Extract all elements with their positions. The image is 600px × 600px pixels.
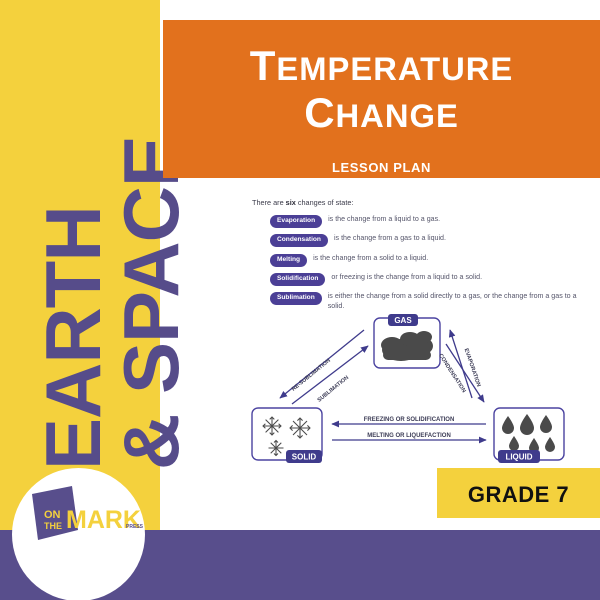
content-body: There are six changes of state: Evaporat… [252, 198, 582, 318]
state-term-evaporation: Evaporation [270, 215, 322, 228]
page-title-line1: TEMPERATURE [163, 44, 600, 91]
state-item: Evaporation is the change from a liquid … [252, 215, 582, 228]
diagram-arrow-label-melting: MELTING OR LIQUEFACTION [367, 433, 451, 439]
state-definition-condensation: is the change from a gas to a liquid. [334, 234, 446, 243]
diagram-label-liquid: LIQUID [505, 453, 532, 462]
diagram-label-gas: GAS [394, 316, 412, 325]
state-term-sublimation: Sublimation [270, 292, 322, 305]
logo-word-on: ON [44, 509, 61, 521]
subject-band: EARTH & SPACE [0, 0, 160, 530]
logo-word-the: THE [44, 521, 62, 531]
page-subtitle: LESSON PLAN [163, 160, 600, 175]
diagram-node-solid: SOLID [252, 408, 322, 463]
grade-badge: GRADE 7 [437, 468, 600, 518]
state-item: Condensation is the change from a gas to… [252, 234, 582, 247]
subject-label-earth: EARTH [34, 206, 112, 470]
state-term-condensation: Condensation [270, 234, 328, 247]
state-term-solidification: Solidification [270, 273, 325, 286]
diagram-node-gas: GAS [374, 314, 440, 368]
state-change-diagram: GAS [246, 312, 600, 477]
page-title: TEMPERATURE CHANGE [163, 44, 600, 138]
subject-label-space: & SPACE [112, 136, 190, 470]
state-definition-evaporation: is the change from a liquid to a gas. [328, 215, 440, 224]
logo-word-press: PRESS [126, 524, 144, 530]
diagram-arrow-label-condensation: CONDENSATION [437, 353, 467, 394]
diagram-arrow-label-freezing: FREEZING OR SOLIDIFICATION [364, 417, 455, 423]
state-definition-sublimation: is either the change from a solid direct… [328, 292, 582, 311]
page-title-line2: CHANGE [163, 91, 600, 138]
publisher-logo: ON THE MARK PRESS [12, 468, 145, 600]
grade-label: GRADE 7 [437, 482, 600, 508]
state-item: Sublimation is either the change from a … [252, 292, 582, 311]
lead-suffix: changes of state: [296, 198, 354, 207]
lesson-plan-cover: EARTH & SPACE TEMPERATURE CHANGE LESSON … [0, 0, 600, 600]
lead-sentence: There are six changes of state: [252, 198, 582, 208]
state-item: Solidification or freezing is the change… [252, 273, 582, 286]
diagram-arrow-label-re-sublimation: RE-SUBLIMATION [291, 358, 332, 393]
diagram-node-liquid: LIQUID [494, 408, 564, 463]
diagram-arrow-label-evaporation: EVAPORATION [463, 348, 482, 388]
lead-bold: six [286, 198, 296, 207]
state-term-melting: Melting [270, 254, 307, 267]
state-definition-melting: is the change from a solid to a liquid. [313, 254, 428, 263]
diagram-label-solid: SOLID [292, 453, 317, 462]
state-item: Melting is the change from a solid to a … [252, 254, 582, 267]
title-header: TEMPERATURE CHANGE LESSON PLAN [163, 20, 600, 178]
state-definition-solidification: or freezing is the change from a liquid … [331, 273, 482, 282]
diagram-arrow-label-sublimation: SUBLIMATION [317, 375, 351, 404]
lead-prefix: There are [252, 198, 286, 207]
